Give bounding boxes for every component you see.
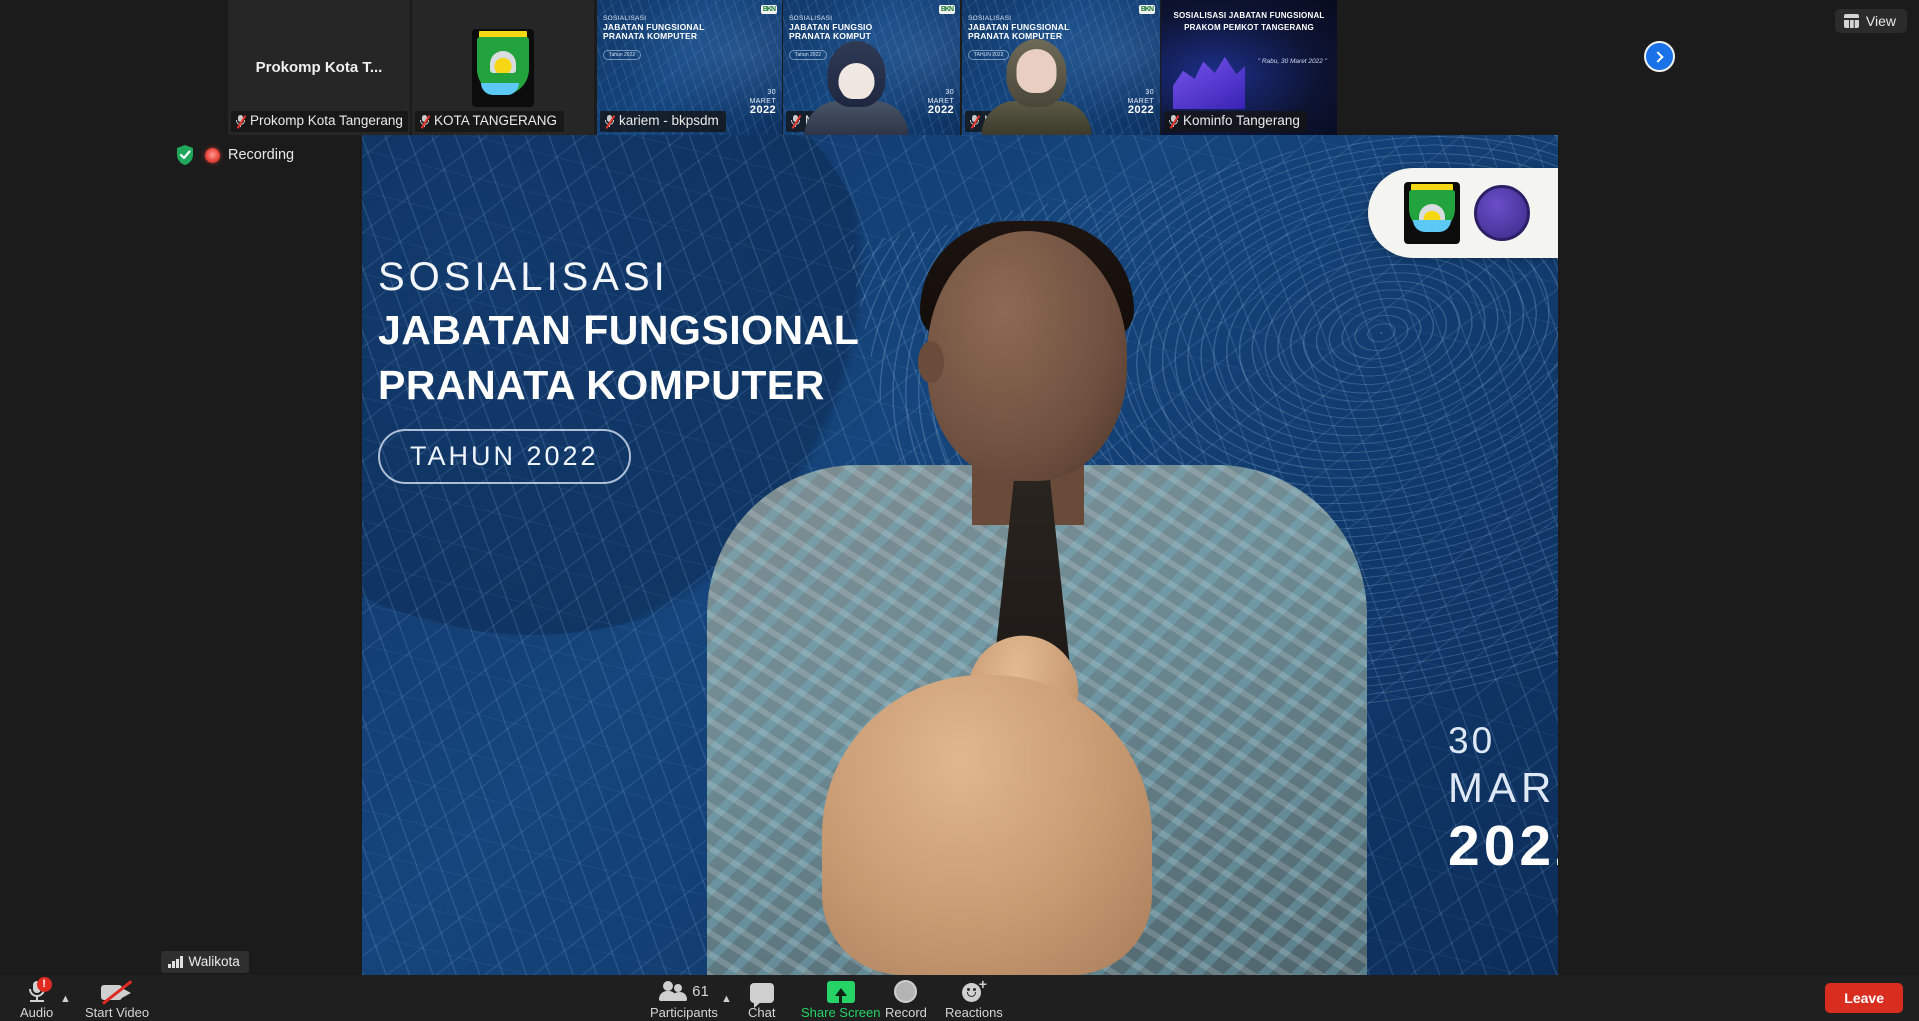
speaker-hand: [822, 675, 1152, 975]
next-page-button[interactable]: [1644, 41, 1675, 72]
people-icon: [659, 981, 687, 1001]
poster-title-line2: PRAKOM PEMKOT TANGERANG: [1169, 22, 1329, 34]
slide-day: 30: [1128, 88, 1155, 97]
thumbnail-indri-kominfo[interactable]: BKN SOSIALISASI JABATAN FUNGSIONAL PRANA…: [962, 0, 1160, 135]
status-badges: Recording: [175, 144, 294, 166]
meeting-stage: Recording SOSIALISASI JABATAN FUNGSIONAL…: [0, 135, 1919, 975]
mic-muted-icon: [604, 114, 615, 129]
audio-warning-badge: !: [37, 977, 52, 992]
slide-line3: PRANATA KOMPUTER: [968, 32, 1070, 41]
chat-button[interactable]: Chat: [748, 979, 775, 1020]
thumbnail-year-badge: TAHUN 2022: [968, 50, 1009, 60]
slide-day: 30: [750, 88, 777, 97]
participants-options-chevron-up-icon[interactable]: ▲: [721, 993, 732, 1005]
thumbnail-year-badge: Tahun 2022: [603, 50, 641, 60]
thumbnail-name-label: Kominfo Tangerang: [1183, 112, 1300, 130]
thumbnail-name-label: Prokomp Kota Tangerang: [250, 112, 403, 130]
slide-year: 2022: [750, 106, 777, 115]
record-button-label: Record: [885, 1005, 927, 1020]
slide-line1: SOSIALISASI: [789, 15, 832, 22]
thumbnail-display-name: Prokomp Kota T...: [256, 59, 383, 76]
signal-bars-icon: [168, 956, 183, 968]
slide-day: 30: [928, 88, 955, 97]
thumbnail-slide-title: SOSIALISASI JABATAN FUNGSIONAL PRANATA K…: [968, 14, 1070, 41]
share-screen-button[interactable]: Share Screen: [801, 979, 881, 1020]
microphone-muted-icon: !: [24, 979, 50, 1003]
record-circle-icon: [894, 980, 917, 1003]
view-button-label: View: [1866, 13, 1896, 29]
chat-bubble-icon: [750, 983, 774, 1003]
share-screen-icon: [827, 981, 855, 1003]
slide-year: 2022: [1128, 106, 1155, 115]
reactions-button-label: Reactions: [945, 1005, 1003, 1020]
mic-muted-icon: [969, 114, 980, 129]
thumbnail-name-badge: Prokomp Kota Tangerang: [231, 111, 408, 132]
speaker-name-label: Walikota: [189, 954, 240, 969]
chat-button-label: Chat: [748, 1005, 775, 1020]
slide-line3: PRANATA KOMPUTER: [603, 32, 705, 41]
start-video-button[interactable]: Start Video: [85, 979, 149, 1020]
bkn-logo-icon: BKN: [761, 5, 777, 14]
thumbnail-name-label: kariem - bkpsdm: [619, 112, 719, 130]
audio-button-label: Audio: [20, 1005, 53, 1020]
thumbnail-kariem-bkpsdm[interactable]: BKN SOSIALISASI JABATAN FUNGSIONAL PRANA…: [597, 0, 782, 135]
active-speaker-video[interactable]: SOSIALISASI JABATAN FUNGSIONAL PRANATA K…: [362, 135, 1558, 975]
speaker-head: [927, 231, 1127, 481]
mic-muted-icon: [235, 114, 246, 129]
thumbnail-slide-title: SOSIALISASI JABATAN FUNGSIONAL PRANATA K…: [603, 14, 705, 41]
thumbnail-kota-tangerang[interactable]: KOTA TANGERANG: [412, 0, 594, 135]
record-button[interactable]: Record: [885, 979, 927, 1020]
mic-muted-icon: [1168, 114, 1179, 129]
thumbnail-date: 30 MARET 2022: [750, 88, 777, 115]
zoom-meeting-window: Prokomp Kota T... Prokomp Kota Tangerang: [0, 0, 1919, 1021]
mic-muted-icon: [790, 114, 801, 129]
start-video-button-label: Start Video: [85, 1005, 149, 1020]
thumbnail-name-badge: KOTA TANGERANG: [415, 111, 564, 132]
audio-button[interactable]: ! Audio: [20, 979, 53, 1020]
thumbnail-maisyarah[interactable]: BKN SOSIALISASI JABATAN FUNGSIO PRANATA …: [783, 0, 960, 135]
participants-count: 61: [692, 984, 709, 999]
participants-button-label: Participants: [650, 1005, 718, 1020]
bkn-logo-icon: BKN: [1139, 5, 1155, 14]
thumbnail-name-label: KOTA TANGERANG: [434, 112, 557, 130]
grid-view-icon: [1844, 14, 1859, 28]
view-button[interactable]: View: [1835, 9, 1907, 33]
bkn-logo-icon: BKN: [939, 5, 955, 14]
participant-silhouette: [827, 41, 908, 135]
thumbnail-name-badge: Kominfo Tangerang: [1164, 111, 1307, 132]
poster-title-line1: SOSIALISASI JABATAN FUNGSIONAL: [1169, 10, 1329, 22]
thumbnail-year-badge: Tahun 2022: [789, 50, 827, 60]
smiley-plus-icon: +: [961, 981, 987, 1003]
speaker-figure: [362, 135, 1558, 975]
chevron-right-icon: [1652, 51, 1663, 62]
audio-options-chevron-up-icon[interactable]: ▲: [60, 993, 71, 1005]
speaker-ear: [918, 341, 944, 383]
thumbnail-date: 30 MARET 2022: [928, 88, 955, 115]
thumbnail-name-badge: kariem - bkpsdm: [600, 111, 726, 132]
shield-check-icon[interactable]: [175, 144, 195, 166]
thumbnail-prokomp-kota-tangerang[interactable]: Prokomp Kota T... Prokomp Kota Tangerang: [228, 0, 410, 135]
meeting-toolbar: ! Audio ▲ Start Video 61 Participants: [0, 975, 1919, 1021]
thumbnail-slide-title: SOSIALISASI JABATAN FUNGSIO PRANATA KOMP…: [789, 14, 872, 41]
participant-filmstrip: Prokomp Kota T... Prokomp Kota Tangerang: [0, 0, 1919, 135]
thumbnail-date: 30 MARET 2022: [1128, 88, 1155, 115]
camera-off-icon: [101, 981, 133, 1003]
leave-button[interactable]: Leave: [1825, 983, 1903, 1013]
slide-line1: SOSIALISASI: [968, 15, 1011, 22]
thumbnail-kominfo-tangerang[interactable]: SOSIALISASI JABATAN FUNGSIONAL PRAKOM PE…: [1161, 0, 1337, 135]
kota-tangerang-crest-icon: [472, 29, 534, 107]
reactions-button[interactable]: + Reactions: [945, 979, 1003, 1020]
poster-title: SOSIALISASI JABATAN FUNGSIONAL PRAKOM PE…: [1169, 10, 1329, 34]
participants-button[interactable]: 61 Participants: [650, 979, 718, 1020]
poster-date: " Rabu, 30 Maret 2022 ": [1258, 58, 1327, 65]
slide-line1: SOSIALISASI: [603, 15, 646, 22]
slide-year: 2022: [928, 106, 955, 115]
recording-indicator[interactable]: Recording: [205, 147, 294, 163]
recording-label: Recording: [228, 147, 294, 163]
share-screen-button-label: Share Screen: [801, 1005, 881, 1020]
speaker-name-tooltip: Walikota: [161, 951, 249, 973]
slide-line3: PRANATA KOMPUT: [789, 32, 872, 41]
mic-muted-icon: [419, 114, 430, 129]
participant-silhouette: [1007, 39, 1092, 135]
recording-dot-icon: [205, 148, 220, 163]
